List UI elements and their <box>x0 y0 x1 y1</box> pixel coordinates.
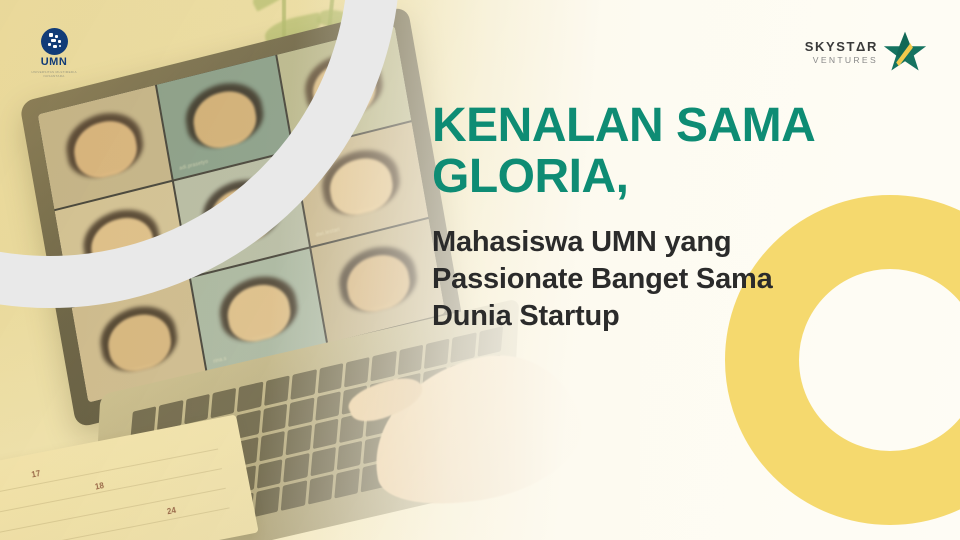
skystar-ventures-logo: SKYSTΔR VENTURES <box>805 30 928 74</box>
umn-mark-icon <box>41 28 68 55</box>
skystar-wordmark: SKYSTΔR <box>805 40 878 53</box>
subheadline-line-3: Dunia Startup <box>432 298 902 335</box>
slide-canvas: adi.prasetyo glorya <box>0 0 960 540</box>
headline-line-1: KENALAN SAMA <box>432 100 902 151</box>
skystar-text-block: SKYSTΔR VENTURES <box>805 40 878 65</box>
subheadline: Mahasiswa UMN yang Passionate Banget Sam… <box>432 224 902 335</box>
umn-logo: UMN UNIVERSITAS MULTIMEDIA NUSANTARA <box>25 28 83 78</box>
skystar-tagline: VENTURES <box>805 56 878 65</box>
subheadline-line-1: Mahasiswa UMN yang <box>432 224 902 261</box>
umn-wordmark: UMN <box>25 57 83 68</box>
headline-line-2: GLORIA, <box>432 151 902 202</box>
headline: KENALAN SAMA GLORIA, <box>432 100 902 203</box>
subheadline-line-2: Passionate Banget Sama <box>432 261 902 298</box>
umn-subtitle: UNIVERSITAS MULTIMEDIA NUSANTARA <box>25 70 83 78</box>
headline-block: KENALAN SAMA GLORIA, Mahasiswa UMN yang … <box>432 100 902 335</box>
star-icon <box>882 30 928 74</box>
